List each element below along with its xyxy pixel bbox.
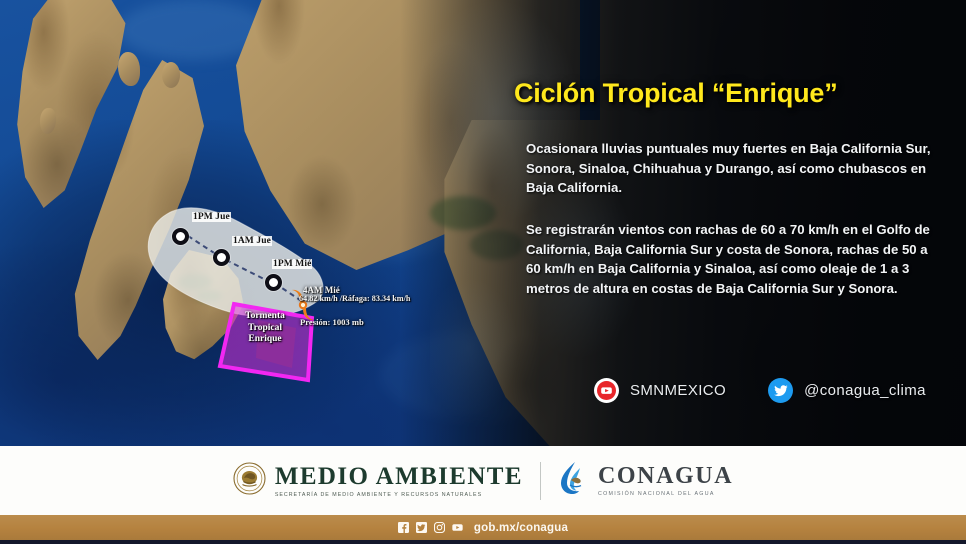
semarnat-subtitle: SECRETARÍA DE MEDIO AMBIENTE Y RECURSOS … bbox=[275, 492, 523, 498]
youtube-handle: SMNMEXICO bbox=[630, 382, 726, 399]
mexico-eagle-seal-icon bbox=[233, 462, 266, 500]
footer-bottom-strip bbox=[0, 540, 966, 544]
footer-logos: MEDIO AMBIENTE SECRETARÍA DE MEDIO AMBIE… bbox=[233, 460, 733, 501]
semarnat-text: MEDIO AMBIENTE SECRETARÍA DE MEDIO AMBIE… bbox=[275, 464, 523, 498]
facebook-icon[interactable] bbox=[398, 522, 409, 533]
youtube-icon bbox=[594, 378, 619, 403]
water-droplet-icon bbox=[558, 460, 589, 501]
wind-description: Se registrarán vientos con rachas de 60 … bbox=[526, 220, 932, 298]
infographic-root: 1PM Jue 1AM Jue 1PM Mié 4AM Mié 64.82 km… bbox=[0, 0, 966, 544]
twitter-icon[interactable] bbox=[416, 522, 427, 533]
conagua-title: CONAGUA bbox=[598, 464, 733, 489]
semarnat-logo: MEDIO AMBIENTE SECRETARÍA DE MEDIO AMBIE… bbox=[233, 462, 523, 500]
footer-url-text[interactable]: gob.mx/conagua bbox=[474, 522, 568, 534]
instagram-icon[interactable] bbox=[434, 522, 445, 533]
twitter-icon bbox=[768, 378, 793, 403]
semarnat-title: MEDIO AMBIENTE bbox=[275, 464, 523, 490]
footer-url-bar: gob.mx/conagua bbox=[0, 515, 966, 540]
conagua-subtitle: COMISIÓN NACIONAL DEL AGUA bbox=[598, 491, 733, 497]
social-links-row: SMNMEXICO @conagua_clima bbox=[594, 378, 926, 403]
conagua-text: CONAGUA COMISIÓN NACIONAL DEL AGUA bbox=[598, 464, 733, 497]
logo-divider bbox=[540, 462, 541, 500]
youtube-icon[interactable] bbox=[452, 522, 463, 533]
footer-branding-band: MEDIO AMBIENTE SECRETARÍA DE MEDIO AMBIE… bbox=[0, 446, 966, 515]
twitter-link[interactable]: @conagua_clima bbox=[768, 378, 926, 403]
page-title: Ciclón Tropical “Enrique” bbox=[514, 78, 838, 109]
youtube-link[interactable]: SMNMEXICO bbox=[594, 378, 726, 403]
twitter-handle: @conagua_clima bbox=[804, 382, 926, 399]
conagua-logo: CONAGUA COMISIÓN NACIONAL DEL AGUA bbox=[558, 460, 733, 501]
rainfall-description: Ocasionara lluvias puntuales muy fuertes… bbox=[526, 139, 932, 198]
